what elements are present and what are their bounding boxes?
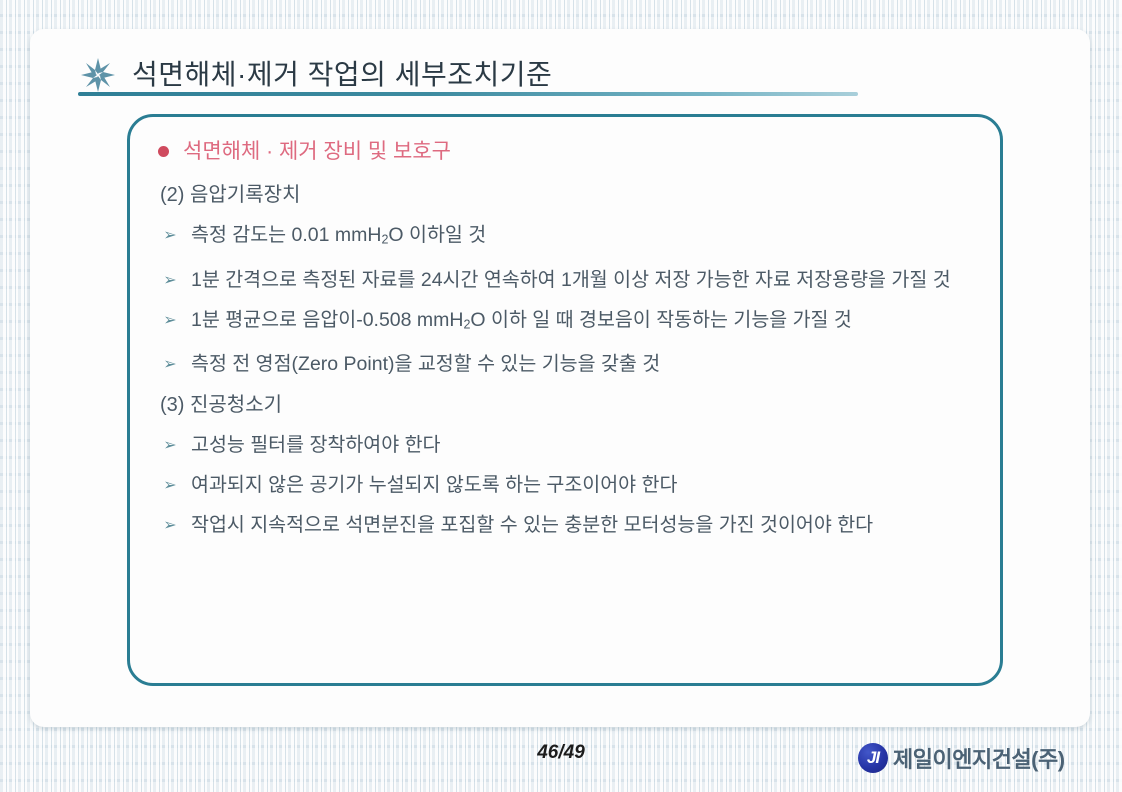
page-title: 석면해체·제거 작업의 세부조치기준 [132,53,552,93]
logo-mark-icon: JI [858,743,888,773]
arrow-bullet-icon: ➢ [158,436,182,456]
round-bullet-icon [158,146,169,157]
list-item-text: 여과되지 않은 공기가 누설되지 않도록 하는 구조이어야 한다 [191,471,677,500]
list-item-text: 측정 전 영점(Zero Point)을 교정할 수 있는 기능을 갖출 것 [191,350,660,379]
list-item: ➢ 1분 평균으로 음압이-0.508 mmH2O 이하 일 때 경보음이 작동… [158,306,980,340]
list-item: ➢ 측정 전 영점(Zero Point)을 교정할 수 있는 기능을 갖출 것 [158,350,980,379]
list-item-text: 1분 간격으로 측정된 자료를 24시간 연속하여 1개월 이상 저장 가능한 … [191,266,951,295]
list-item-text: 1분 평균으로 음압이-0.508 mmH2O 이하 일 때 경보음이 작동하는… [191,306,852,340]
arrow-bullet-icon: ➢ [158,311,182,331]
list-item: ➢ 여과되지 않은 공기가 누설되지 않도록 하는 구조이어야 한다 [158,471,980,500]
list-item: ➢ 측정 감도는 0.01 mmH2O 이하일 것 [158,221,980,255]
list-item-text: 작업시 지속적으로 석면분진을 포집할 수 있는 충분한 모터성능을 가진 것이… [191,511,873,540]
section-heading: 석면해체 · 제거 장비 및 보호구 [183,137,451,167]
group-label-3: (3) 진공청소기 [160,390,980,420]
slide-card: 석면해체·제거 작업의 세부조치기준 석면해체 · 제거 장비 및 보호구 (2… [30,29,1090,727]
list-item-text: 고성능 필터를 장착하여야 한다 [191,431,440,460]
arrow-bullet-icon: ➢ [158,516,182,536]
list-item: ➢ 작업시 지속적으로 석면분진을 포집할 수 있는 충분한 모터성능을 가진 … [158,511,980,540]
title-underline-bar [78,92,858,96]
group-label-2: (2) 음압기록장치 [160,180,980,210]
list-item: ➢ 1분 간격으로 측정된 자료를 24시간 연속하여 1개월 이상 저장 가능… [158,266,980,295]
content-frame: 석면해체 · 제거 장비 및 보호구 (2) 음압기록장치 ➢ 측정 감도는 0… [127,114,1003,686]
pinwheel-icon [78,55,118,95]
arrow-bullet-icon: ➢ [158,271,182,291]
company-logo: JI 제일이엔지건설(주) [858,742,1065,774]
content-body: 석면해체 · 제거 장비 및 보호구 (2) 음압기록장치 ➢ 측정 감도는 0… [158,137,980,551]
list-item: ➢ 고성능 필터를 장착하여야 한다 [158,431,980,460]
arrow-bullet-icon: ➢ [158,355,182,375]
arrow-bullet-icon: ➢ [158,226,182,246]
company-name: 제일이엔지건설(주) [893,742,1065,774]
list-item-text: 측정 감도는 0.01 mmH2O 이하일 것 [191,221,486,255]
section-heading-row: 석면해체 · 제거 장비 및 보호구 [158,137,980,167]
arrow-bullet-icon: ➢ [158,476,182,496]
